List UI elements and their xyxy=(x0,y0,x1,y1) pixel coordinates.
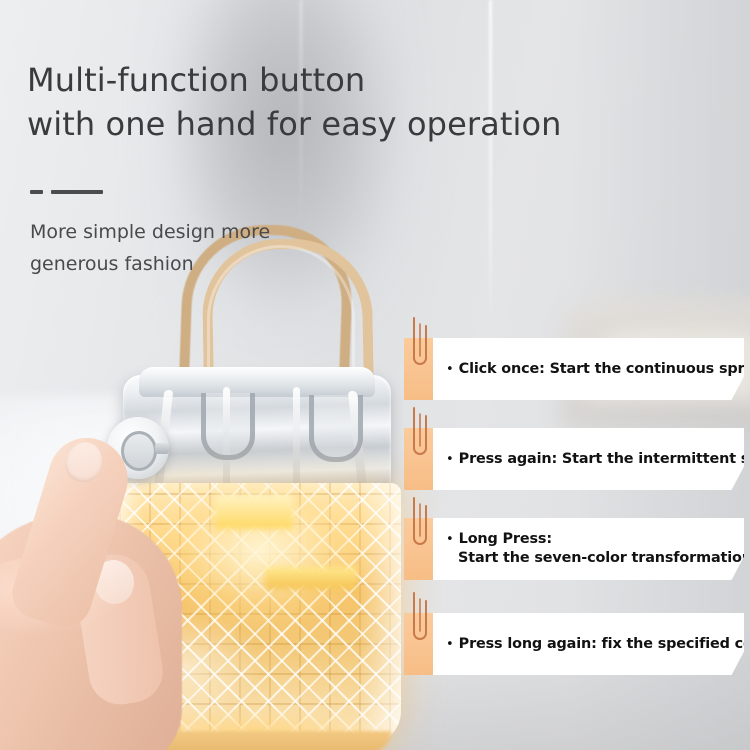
feature-text-secondary: Start the seven-color transformation xyxy=(458,549,750,568)
feature-bullet: • xyxy=(446,530,454,549)
feature-card[interactable]: • Press again: Start the intermittent sp… xyxy=(432,428,744,490)
feature-item[interactable]: • Long Press: Start the seven-color tran… xyxy=(404,510,744,578)
feature-text: Press long again: fix the specified colo… xyxy=(459,635,750,654)
feature-text: Press again: Start the intermittent spra… xyxy=(459,450,750,469)
subtitle: More simple design more generous fashion xyxy=(30,216,360,280)
subtitle-line-1: More simple design more xyxy=(30,216,360,248)
paperclip-icon xyxy=(406,589,432,651)
handle-anchor-loop xyxy=(201,393,255,460)
handle-anchor-loop xyxy=(309,395,363,462)
feature-card[interactable]: • Press long again: fix the specified co… xyxy=(432,613,744,675)
product-feature-banner: Multi-function button with one hand for … xyxy=(0,0,750,750)
feature-text: Click once: Start the continuous spray xyxy=(459,360,750,379)
divider-dash-short xyxy=(30,190,43,194)
paperclip-icon xyxy=(406,404,432,466)
paperclip-icon xyxy=(406,494,432,556)
divider-dash-long xyxy=(51,190,103,194)
feature-item[interactable]: • Click once: Start the continuous spray xyxy=(404,330,744,393)
chrome-lid-top xyxy=(139,367,375,397)
feature-bullet: • xyxy=(446,360,454,379)
heading-line-2: with one hand for easy operation xyxy=(27,102,717,146)
feature-card[interactable]: • Long Press: Start the seven-color tran… xyxy=(432,518,744,580)
glass-highlight xyxy=(215,495,293,529)
glass-edge-right xyxy=(357,483,401,745)
background-wall-seam xyxy=(489,0,492,330)
lid-rib xyxy=(293,387,300,491)
hand-pressing-button xyxy=(0,436,202,750)
feature-card[interactable]: • Click once: Start the continuous spray xyxy=(432,338,744,400)
heading-line-1: Multi-function button xyxy=(27,58,717,102)
divider xyxy=(30,190,103,194)
page-title: Multi-function button with one hand for … xyxy=(27,58,717,146)
feature-item[interactable]: • Press long again: fix the specified co… xyxy=(404,605,744,668)
paperclip-icon xyxy=(406,314,432,376)
feature-bullet: • xyxy=(446,450,454,469)
feature-text: Long Press: xyxy=(459,530,552,549)
glass-highlight xyxy=(265,567,357,589)
feature-item[interactable]: • Press again: Start the intermittent sp… xyxy=(404,420,744,483)
subtitle-line-2: generous fashion xyxy=(30,248,360,280)
feature-bullet: • xyxy=(446,635,454,654)
feature-list: • Click once: Start the continuous spray… xyxy=(404,330,744,695)
